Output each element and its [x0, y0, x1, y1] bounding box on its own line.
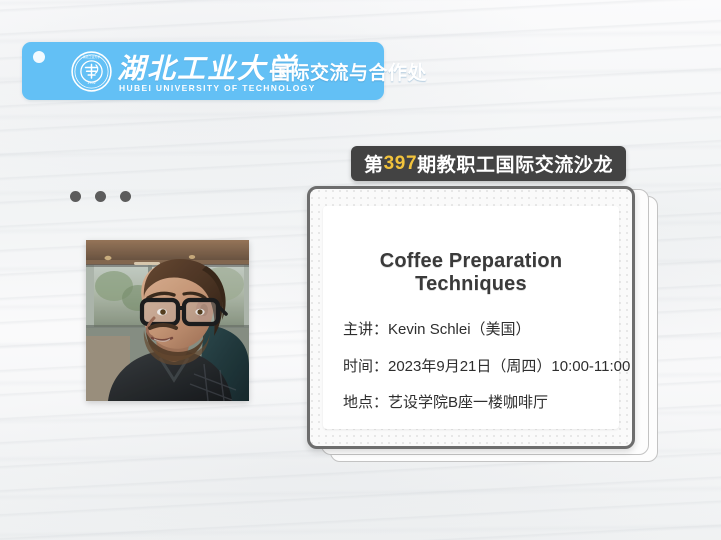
decorative-dots [70, 191, 131, 202]
event-title: Coffee Preparation Techniques [323, 206, 619, 296]
svg-text:1952: 1952 [87, 81, 96, 85]
office-label: 国际交流与合作处 [271, 42, 427, 100]
tag-hole-icon [33, 51, 45, 63]
ribbon-suffix: 期教职工国际交流沙龙 [417, 150, 613, 177]
event-details-list: 主讲：Kevin Schlei（美国） 时间：2023年9月21日（周四）10:… [323, 296, 619, 412]
event-card-inner: Coffee Preparation Techniques 主讲：Kevin S… [323, 206, 619, 429]
dot-2-icon [95, 191, 106, 202]
session-title-ribbon: 第397期教职工国际交流沙龙 [351, 146, 626, 181]
ribbon-issue-number: 397 [384, 153, 418, 175]
ribbon-prefix: 第 [364, 150, 384, 177]
event-detail-time: 时间：2023年9月21日（周四）10:00-11:00 [343, 359, 619, 376]
university-header-banner: 1952 湖北工业大学 湖北工业大学 HUBEI UNIVERSITY OF T… [22, 42, 384, 100]
event-detail-speaker: 主讲：Kevin Schlei（美国） [343, 322, 619, 339]
dot-3-icon [120, 191, 131, 202]
svg-text:湖北工业大学: 湖北工业大学 [83, 54, 100, 59]
university-seal-icon: 1952 湖北工业大学 [71, 51, 112, 92]
event-card: Coffee Preparation Techniques 主讲：Kevin S… [307, 186, 635, 449]
speaker-portrait-photo [86, 240, 249, 401]
dot-1-icon [70, 191, 81, 202]
university-name-cn: 湖北工业大学 [117, 50, 297, 84]
event-detail-location: 地点：艺设学院B座一楼咖啡厅 [343, 395, 619, 412]
poster-stage: 1952 湖北工业大学 湖北工业大学 HUBEI UNIVERSITY OF T… [0, 0, 721, 540]
